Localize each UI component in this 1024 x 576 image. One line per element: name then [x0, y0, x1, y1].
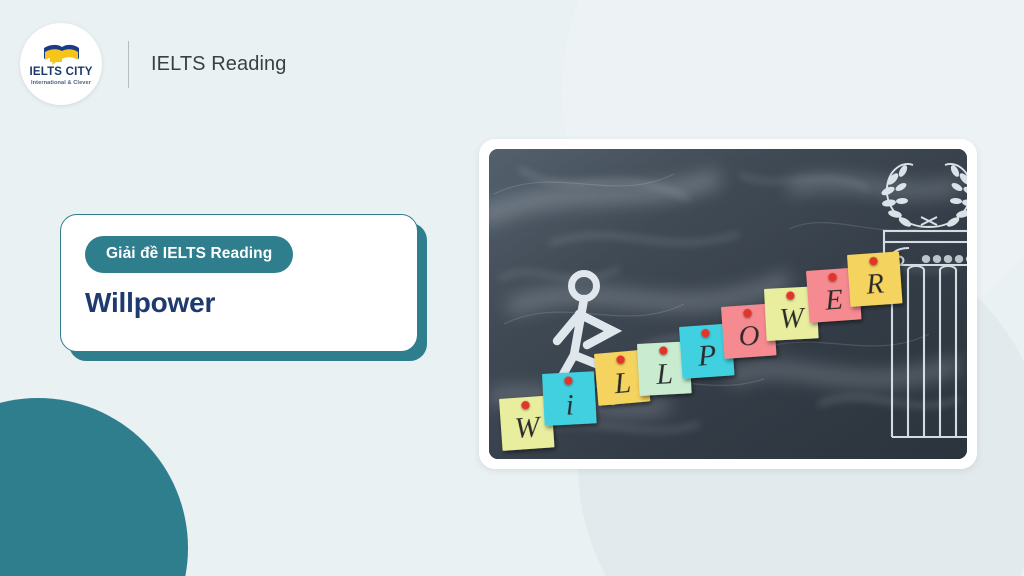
- page-title: IELTS Reading: [151, 53, 286, 76]
- chalkboard-illustration: W i L L: [489, 149, 967, 459]
- lesson-title: Willpower: [85, 287, 417, 319]
- open-book-logo-icon: [40, 41, 82, 65]
- card-body: Giải đề IELTS Reading Willpower: [60, 214, 418, 352]
- category-badge: Giải đề IELTS Reading: [85, 236, 293, 273]
- hero-image-frame: W i L L: [479, 139, 977, 469]
- brand-tagline: International & Clever: [31, 81, 91, 87]
- hero-image: W i L L: [489, 149, 967, 459]
- lesson-title-card: Giải đề IELTS Reading Willpower: [60, 214, 418, 352]
- header-divider: [128, 41, 129, 88]
- brand-logo[interactable]: IELTS CITY International & Clever: [20, 23, 102, 105]
- background-teal-quarter-circle: [0, 398, 188, 576]
- brand-name: IELTS CITY: [29, 67, 92, 79]
- header: IELTS CITY International & Clever IELTS …: [20, 22, 286, 106]
